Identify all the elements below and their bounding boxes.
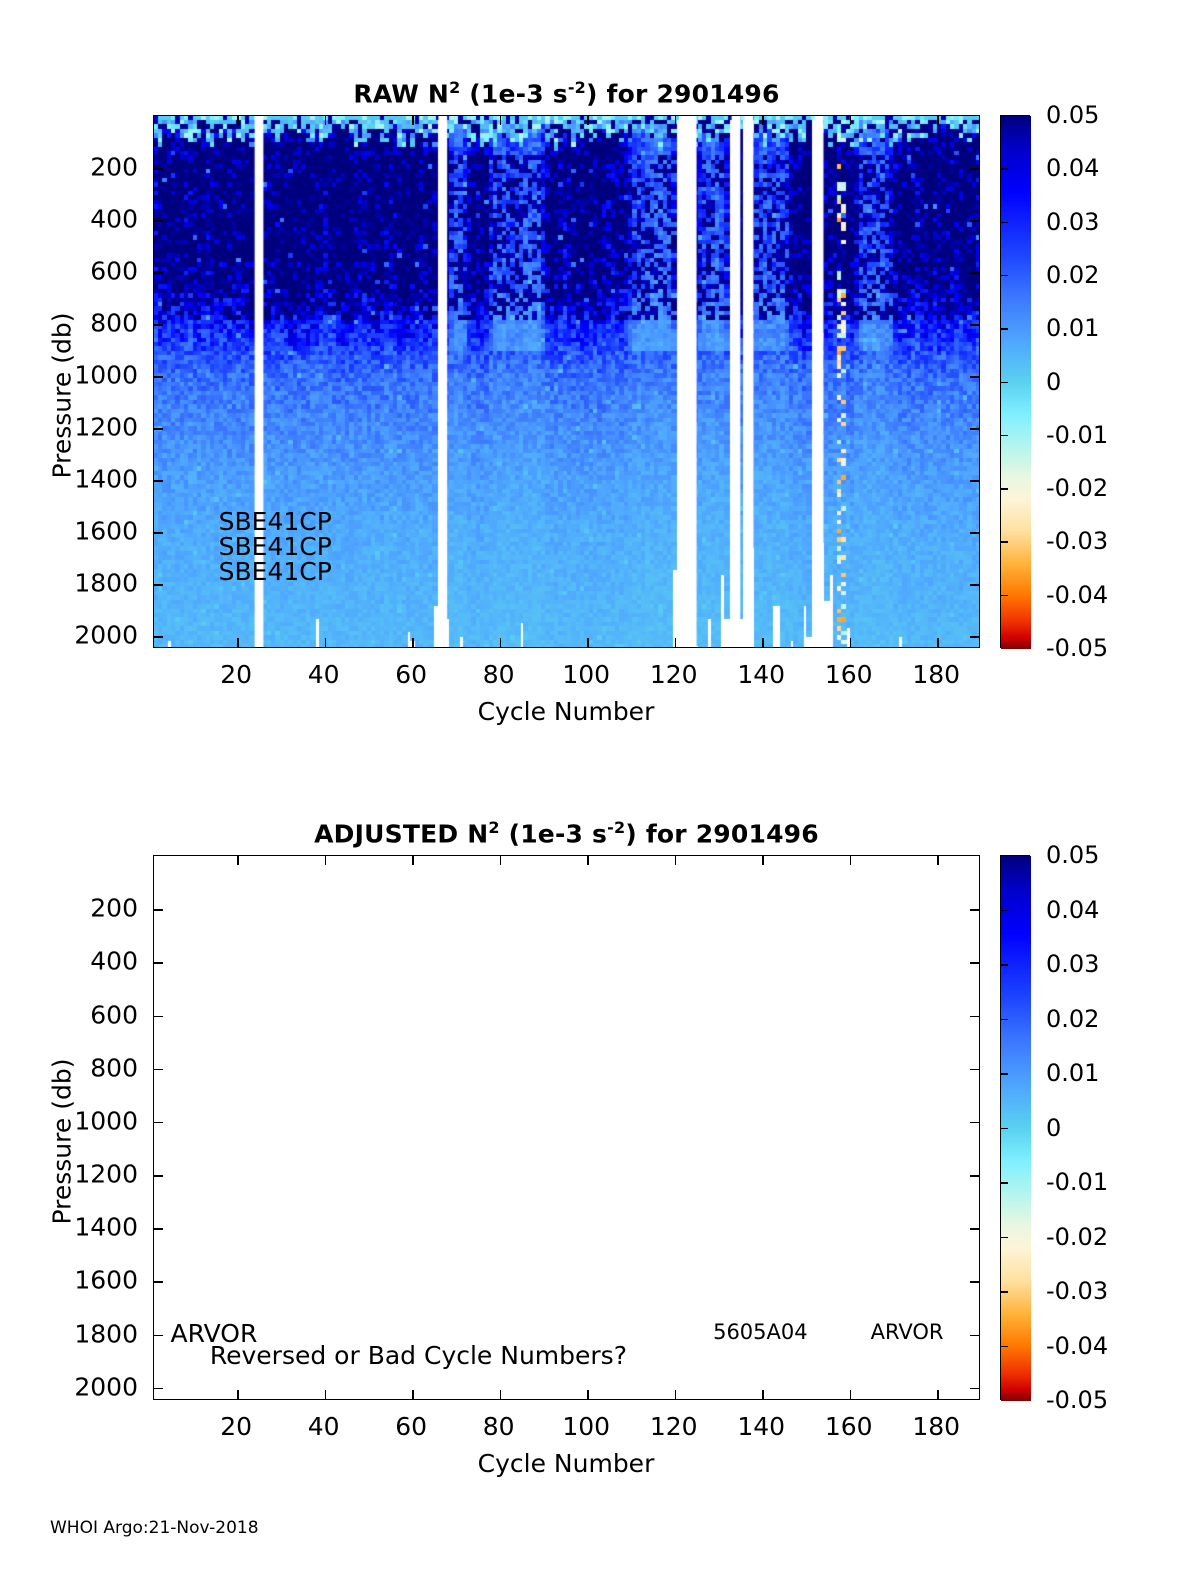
adjusted-colorbar-tick — [1000, 1182, 1008, 1184]
adjusted-xtick — [500, 1390, 502, 1399]
adjusted-title-mid: (1e-3 s — [500, 819, 607, 848]
raw-ytick-right — [970, 428, 979, 430]
raw-colorbar-tick — [1000, 168, 1008, 170]
adjusted-xtick — [237, 1390, 239, 1399]
adjusted-ytick-right — [970, 1175, 979, 1177]
raw-ytick — [154, 376, 163, 378]
adjusted-xtick-top — [587, 856, 589, 865]
raw-xtick — [937, 638, 939, 647]
adjusted-ytick-label: 2000 — [13, 1372, 138, 1401]
raw-ytick — [154, 428, 163, 430]
raw-colorbar-label: -0.04 — [1046, 581, 1108, 609]
raw-ytick — [154, 480, 163, 482]
adjusted-xtick-label: 60 — [395, 1412, 427, 1441]
adjusted-annotation: ARVOR — [871, 1320, 944, 1344]
adjusted-xtick — [675, 1390, 677, 1399]
adjusted-xtick-top — [412, 856, 414, 865]
adjusted-xtick — [850, 1390, 852, 1399]
raw-xtick-top — [325, 116, 327, 125]
raw-colorbar-label: 0 — [1046, 368, 1061, 396]
raw-ytick-label: 1600 — [13, 517, 138, 546]
raw-xtick — [762, 638, 764, 647]
adjusted-xtick — [325, 1390, 327, 1399]
adjusted-title-prefix: ADJUSTED N — [314, 819, 488, 848]
adjusted-colorbar-label: -0.03 — [1046, 1277, 1108, 1305]
raw-colorbar-label: 0.03 — [1046, 208, 1099, 236]
adjusted-plot-title: ADJUSTED N2 (1e-3 s-2) for 2901496 — [153, 818, 980, 848]
adjusted-colorbar-label: 0 — [1046, 1114, 1061, 1142]
adjusted-colorbar-tick — [1000, 1128, 1008, 1130]
raw-ytick-right — [970, 324, 979, 326]
adjusted-colorbar-label: 0.02 — [1046, 1005, 1099, 1033]
raw-ytick-label: 400 — [13, 205, 138, 234]
adjusted-colorbar-tick — [1000, 1291, 1008, 1293]
adjusted-xtick — [937, 1390, 939, 1399]
adjusted-ytick — [154, 1281, 163, 1283]
raw-colorbar-label: -0.02 — [1046, 474, 1108, 502]
raw-colorbar-tick — [1000, 435, 1008, 437]
adjusted-xtick-label: 120 — [650, 1412, 698, 1441]
raw-ytick-right — [970, 220, 979, 222]
adjusted-ytick-right — [970, 1069, 979, 1071]
raw-xtick — [237, 638, 239, 647]
raw-xtick-label: 180 — [912, 660, 960, 689]
raw-xtick-top — [587, 116, 589, 125]
raw-xtick-label: 40 — [308, 660, 340, 689]
adjusted-xtick-top — [850, 856, 852, 865]
raw-ytick — [154, 324, 163, 326]
adjusted-xtick-top — [500, 856, 502, 865]
raw-xaxis-label: Cycle Number — [478, 697, 655, 726]
adjusted-colorbar-label: -0.05 — [1046, 1386, 1108, 1414]
adjusted-ytick-right — [970, 1388, 979, 1390]
raw-plot-title: RAW N2 (1e-3 s-2) for 2901496 — [153, 78, 980, 108]
raw-colorbar-label: 0.01 — [1046, 314, 1099, 342]
raw-xtick-label: 160 — [825, 660, 873, 689]
raw-xtick-label: 120 — [650, 660, 698, 689]
adjusted-ytick — [154, 1175, 163, 1177]
raw-xtick — [325, 638, 327, 647]
raw-ytick — [154, 584, 163, 586]
adjusted-xaxis-label: Cycle Number — [478, 1449, 655, 1478]
adjusted-ytick-right — [970, 1016, 979, 1018]
raw-title-prefix: RAW N — [353, 79, 449, 108]
adjusted-yaxis-label: Pressure (db) — [48, 1032, 77, 1252]
adjusted-ytick — [154, 1122, 163, 1124]
adjusted-colorbar-tick — [1000, 964, 1008, 966]
raw-xtick — [412, 638, 414, 647]
raw-colorbar-label: -0.05 — [1046, 634, 1108, 662]
raw-colorbar-label: 0.05 — [1046, 101, 1099, 129]
raw-colorbar-label: -0.01 — [1046, 421, 1108, 449]
adjusted-ytick-label: 1800 — [13, 1319, 138, 1348]
raw-ytick-label: 600 — [13, 257, 138, 286]
raw-xtick-label: 60 — [395, 660, 427, 689]
raw-xtick-top — [675, 116, 677, 125]
raw-xtick-top — [237, 116, 239, 125]
raw-annotation: SBE41CP — [219, 557, 332, 586]
adjusted-colorbar-label: -0.01 — [1046, 1168, 1108, 1196]
adjusted-ytick-right — [970, 1335, 979, 1337]
adjusted-colorbar-label: 0.01 — [1046, 1059, 1099, 1087]
raw-xtick-label: 140 — [737, 660, 785, 689]
raw-xtick — [500, 638, 502, 647]
adjusted-colorbar-label: 0.04 — [1046, 896, 1099, 924]
adjusted-colorbar-label: -0.04 — [1046, 1332, 1108, 1360]
raw-colorbar-tick — [1000, 541, 1008, 543]
adjusted-ytick-right — [970, 1122, 979, 1124]
raw-ytick-right — [970, 532, 979, 534]
raw-colorbar-tick — [1000, 275, 1008, 277]
raw-ytick-right — [970, 376, 979, 378]
raw-colorbar-tick — [1000, 488, 1008, 490]
raw-colorbar-tick — [1000, 328, 1008, 330]
adjusted-axes — [153, 855, 980, 1400]
raw-title-exp-1: 2 — [449, 78, 460, 97]
raw-colorbar-label: 0.04 — [1046, 154, 1099, 182]
raw-ytick — [154, 168, 163, 170]
raw-xtick — [850, 638, 852, 647]
adjusted-ytick-right — [970, 962, 979, 964]
raw-xtick — [675, 638, 677, 647]
adjusted-ytick — [154, 1016, 163, 1018]
raw-xtick-top — [500, 116, 502, 125]
raw-colorbar-tick — [1000, 382, 1008, 384]
raw-xtick — [587, 638, 589, 647]
adjusted-ytick — [154, 962, 163, 964]
adjusted-colorbar-label: -0.02 — [1046, 1223, 1108, 1251]
raw-ytick — [154, 220, 163, 222]
raw-ytick-right — [970, 168, 979, 170]
adjusted-title-suffix: ) for 2901496 — [625, 819, 819, 848]
adjusted-ytick — [154, 1388, 163, 1390]
raw-colorbar-label: 0.02 — [1046, 261, 1099, 289]
raw-ytick — [154, 532, 163, 534]
adjusted-xtick-label: 20 — [220, 1412, 252, 1441]
adjusted-xtick-top — [237, 856, 239, 865]
figure-footer: WHOI Argo:21-Nov-2018 — [50, 1518, 259, 1538]
adjusted-xtick-label: 80 — [483, 1412, 515, 1441]
adjusted-xtick-top — [675, 856, 677, 865]
raw-ytick-label: 200 — [13, 153, 138, 182]
adjusted-colorbar-tick — [1000, 1019, 1008, 1021]
adjusted-ytick-label: 600 — [13, 1000, 138, 1029]
raw-yaxis-label: Pressure (db) — [48, 286, 77, 506]
adjusted-annotation: Reversed or Bad Cycle Numbers? — [210, 1341, 627, 1370]
adjusted-xtick — [762, 1390, 764, 1399]
raw-ytick-right — [970, 272, 979, 274]
raw-xtick-label: 80 — [483, 660, 515, 689]
adjusted-xtick-label: 140 — [737, 1412, 785, 1441]
adjusted-ytick — [154, 1335, 163, 1337]
adjusted-title-exp-2: -2 — [607, 818, 625, 837]
adjusted-xtick — [412, 1390, 414, 1399]
adjusted-ytick-right — [970, 1281, 979, 1283]
raw-xtick-top — [762, 116, 764, 125]
raw-title-exp-2: -2 — [568, 78, 586, 97]
adjusted-colorbar-label: 0.05 — [1046, 841, 1099, 869]
adjusted-ytick-label: 200 — [13, 894, 138, 923]
raw-title-mid: (1e-3 s — [460, 79, 567, 108]
adjusted-ytick — [154, 909, 163, 911]
raw-colorbar-tick — [1000, 222, 1008, 224]
raw-ytick-right — [970, 584, 979, 586]
raw-xtick-top — [412, 116, 414, 125]
adjusted-xtick — [587, 1390, 589, 1399]
adjusted-colorbar-tick — [1000, 910, 1008, 912]
raw-xtick-top — [850, 116, 852, 125]
adjusted-xtick-label: 160 — [825, 1412, 873, 1441]
adjusted-xtick-top — [325, 856, 327, 865]
adjusted-ytick — [154, 1228, 163, 1230]
adjusted-ytick — [154, 1069, 163, 1071]
adjusted-xtick-label: 180 — [912, 1412, 960, 1441]
adjusted-xtick-label: 100 — [562, 1412, 610, 1441]
adjusted-colorbar-label: 0.03 — [1046, 950, 1099, 978]
adjusted-colorbar-tick — [1000, 1346, 1008, 1348]
adjusted-title-exp-1: 2 — [488, 818, 499, 837]
adjusted-ytick-label: 1600 — [13, 1266, 138, 1295]
raw-colorbar-label: -0.03 — [1046, 527, 1108, 555]
raw-xtick-label: 20 — [220, 660, 252, 689]
raw-ytick-label: 2000 — [13, 621, 138, 650]
adjusted-colorbar-tick — [1000, 1073, 1008, 1075]
adjusted-annotation: 5605A04 — [713, 1320, 808, 1344]
adjusted-colorbar-tick — [1000, 1237, 1008, 1239]
raw-xtick-top — [937, 116, 939, 125]
raw-xtick-label: 100 — [562, 660, 610, 689]
adjusted-ytick-label: 400 — [13, 947, 138, 976]
raw-ytick — [154, 636, 163, 638]
adjusted-ytick-right — [970, 909, 979, 911]
adjusted-xtick-top — [937, 856, 939, 865]
raw-colorbar-tick — [1000, 595, 1008, 597]
adjusted-xtick-top — [762, 856, 764, 865]
adjusted-ytick-right — [970, 1228, 979, 1230]
raw-ytick — [154, 272, 163, 274]
adjusted-xtick-label: 40 — [308, 1412, 340, 1441]
raw-ytick-right — [970, 636, 979, 638]
raw-ytick-label: 1800 — [13, 569, 138, 598]
raw-ytick-right — [970, 480, 979, 482]
raw-title-suffix: ) for 2901496 — [586, 79, 780, 108]
